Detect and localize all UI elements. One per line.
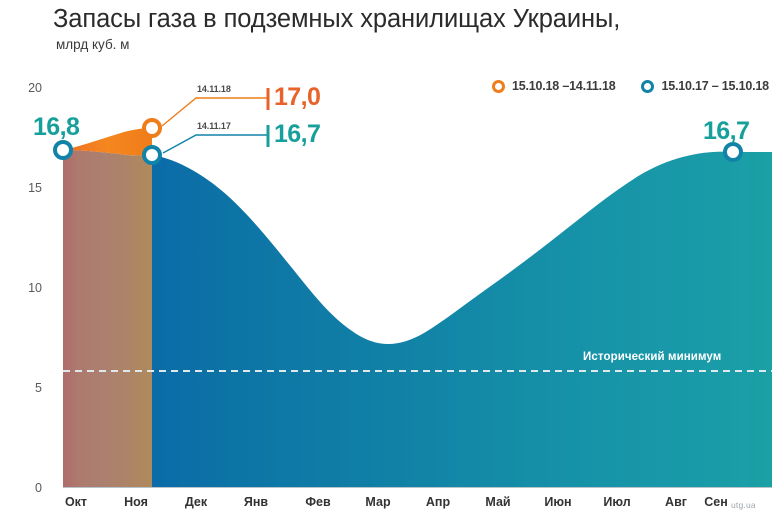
peak-label-left: 16,8 — [33, 113, 79, 142]
x-axis-label-avg: Авг — [665, 495, 687, 509]
x-axis-label-iyun: Июн — [544, 495, 571, 509]
x-axis-label-apr: Апр — [426, 495, 450, 509]
marker-start-point[interactable] — [55, 142, 71, 158]
y-axis-tick-10: 10 — [8, 281, 42, 295]
y-axis-tick-15: 15 — [8, 181, 42, 195]
marker-orange-peak[interactable] — [144, 120, 160, 136]
y-axis-tick-0: 0 — [8, 481, 42, 495]
chart-container: Запасы газа в подземных хранилищах Украи… — [0, 0, 772, 525]
x-axis-label-noya: Ноя — [124, 495, 148, 509]
callout-value-orange: 17,0 — [274, 83, 320, 112]
callout-date-teal: 14.11.17 — [197, 121, 231, 131]
marker-end-point[interactable] — [725, 144, 741, 160]
x-axis-label-may: Май — [485, 495, 510, 509]
marker-teal-peak[interactable] — [144, 147, 160, 163]
x-axis-label-dek: Дек — [185, 495, 207, 509]
x-axis-label-okt: Окт — [65, 495, 87, 509]
callout-date-orange: 14.11.18 — [197, 84, 231, 94]
series-area-previous-period — [63, 150, 152, 487]
y-axis-tick-20: 20 — [8, 81, 42, 95]
x-axis-label-iyul: Июл — [603, 495, 630, 509]
chart-plot-area — [0, 0, 772, 525]
x-axis-label-sen: Сен — [704, 495, 728, 509]
watermark: utg.ua — [731, 500, 756, 510]
historical-minimum-label: Исторический минимум — [583, 351, 721, 363]
y-axis-tick-5: 5 — [8, 381, 42, 395]
series-area-current-period — [152, 152, 772, 487]
x-axis-label-mar: Мар — [365, 495, 390, 509]
x-axis-label-fev: Фев — [305, 495, 330, 509]
callout-value-teal: 16,7 — [274, 120, 320, 149]
peak-label-right: 16,7 — [703, 117, 749, 146]
x-axis-label-yanv: Янв — [244, 495, 268, 509]
